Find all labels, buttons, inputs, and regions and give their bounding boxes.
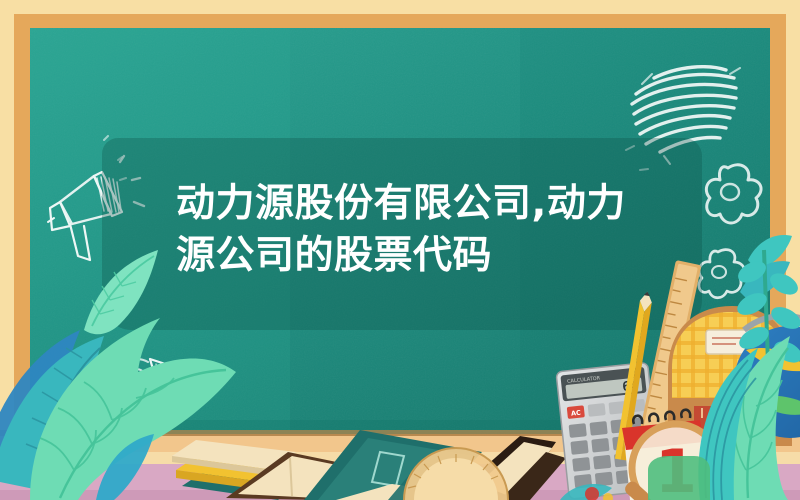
potted-plant (648, 456, 710, 500)
calculator-ac-key: AC (571, 409, 582, 418)
page-title-line-1: 动力源股份有限公司,动力 (176, 178, 646, 230)
page-title: 动力源股份有限公司,动力 源公司的股票代码 (176, 178, 646, 282)
page-title-line-2: 源公司的股票代码 (176, 230, 646, 282)
banner-image: 动力源股份有限公司,动力 源公司的股票代码 (0, 0, 800, 500)
